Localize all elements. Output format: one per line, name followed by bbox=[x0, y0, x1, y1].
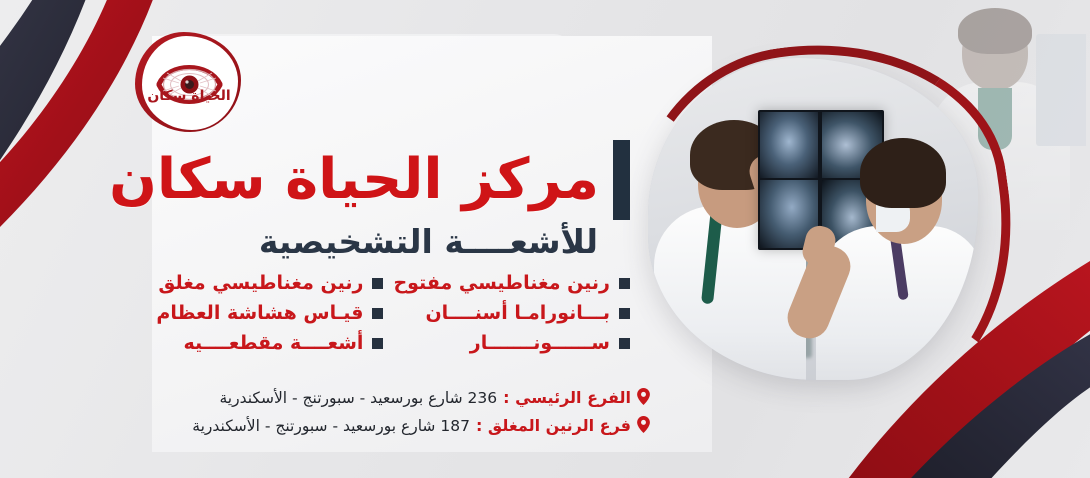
silhouette-collar bbox=[978, 88, 1012, 150]
branch-label: الفرع الرئيسي : bbox=[503, 388, 631, 407]
service-item: رنين مغناطيسي مفتوح bbox=[393, 272, 630, 296]
logo-caption: الحياة سكان bbox=[133, 88, 245, 104]
services-column-right: رنين مغناطيسي مغلق قيـاس هشاشة العظام أش… bbox=[150, 272, 383, 355]
service-label: ســــــونـــــــار bbox=[470, 332, 610, 356]
map-pin-icon bbox=[637, 388, 650, 405]
doctors-xray-photo bbox=[648, 58, 978, 380]
title-accent-bar bbox=[613, 140, 630, 220]
services-list: رنين مغناطيسي مفتوح بـــانورامـا أسنــــ… bbox=[150, 272, 630, 355]
title-row: مركز الحياة سكان bbox=[160, 140, 630, 220]
branch-label: فرع الرنين المغلق : bbox=[476, 416, 631, 435]
services-column-left: رنين مغناطيسي مفتوح بـــانورامـا أسنــــ… bbox=[393, 272, 630, 355]
service-label: رنين مغناطيسي مفتوح bbox=[393, 272, 610, 296]
page-subtitle: للأشعــــة التشخيصية bbox=[160, 222, 630, 261]
branch-row: الفرع الرئيسي : 236 شارع بورسعيد - سبورت… bbox=[120, 386, 650, 407]
eye-scan-icon bbox=[133, 28, 245, 140]
square-bullet-icon bbox=[619, 308, 630, 319]
page-title: مركز الحياة سكان bbox=[109, 151, 599, 208]
service-label: رنين مغناطيسي مغلق bbox=[158, 272, 363, 296]
map-pin-icon bbox=[637, 416, 650, 433]
service-item: ســــــونـــــــار bbox=[393, 332, 630, 356]
service-item: قيـاس هشاشة العظام bbox=[150, 302, 383, 326]
silhouette-hair bbox=[958, 8, 1032, 54]
service-label: بـــانورامـا أسنــــان bbox=[425, 302, 610, 326]
square-bullet-icon bbox=[619, 338, 630, 349]
banner-root: Canon Orion bbox=[0, 0, 1090, 478]
branch-address: 187 شارع بورسعيد - سبورتنج - الأسكندرية bbox=[192, 417, 470, 435]
headline-block: مركز الحياة سكان للأشعــــة التشخيصية bbox=[160, 140, 630, 261]
service-item: رنين مغناطيسي مغلق bbox=[150, 272, 383, 296]
service-label: قيـاس هشاشة العظام bbox=[156, 302, 363, 326]
logo[interactable]: الحياة سكان bbox=[133, 28, 245, 140]
service-item: أشعــــة مقطعــــيه bbox=[150, 332, 383, 356]
square-bullet-icon bbox=[619, 278, 630, 289]
xray-image-chest bbox=[760, 112, 818, 178]
branch-row: فرع الرنين المغلق : 187 شارع بورسعيد - س… bbox=[120, 414, 650, 435]
branches-block: الفرع الرئيسي : 236 شارع بورسعيد - سبورت… bbox=[120, 386, 650, 442]
photo-blob-shape bbox=[648, 58, 978, 380]
square-bullet-icon bbox=[372, 278, 383, 289]
silhouette-xray-film bbox=[1036, 34, 1086, 146]
branch-address: 236 شارع بورسعيد - سبورتنج - الأسكندرية bbox=[219, 389, 497, 407]
square-bullet-icon bbox=[372, 308, 383, 319]
square-bullet-icon bbox=[372, 338, 383, 349]
service-label: أشعــــة مقطعــــيه bbox=[183, 332, 363, 356]
service-item: بـــانورامـا أسنــــان bbox=[393, 302, 630, 326]
right-doctor-hair bbox=[860, 138, 946, 208]
